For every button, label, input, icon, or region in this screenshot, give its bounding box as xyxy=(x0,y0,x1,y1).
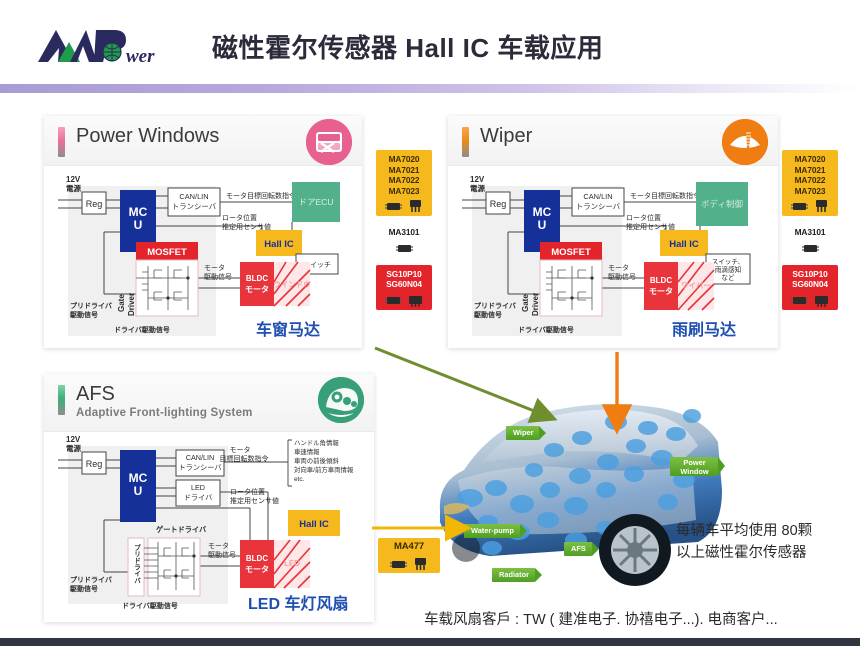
svg-text:ドアECU: ドアECU xyxy=(299,197,334,207)
to220-package-icon xyxy=(406,199,425,213)
soic-package-icon xyxy=(384,293,403,307)
panel-accent-bar xyxy=(58,385,65,415)
svg-text:目標回転数指令: 目標回転数指令 xyxy=(220,454,269,463)
svg-text:プリドライバ: プリドライバ xyxy=(70,575,112,584)
parts-column-power-windows: MA7020 MA7021 MA7022 MA7023 MA3101 SG10P… xyxy=(376,150,432,317)
svg-text:LED: LED xyxy=(284,559,300,568)
svg-text:モータ目標回転数指令: モータ目標回転数指令 xyxy=(630,191,700,200)
svg-text:ドライバ駆動信号: ドライバ駆動信号 xyxy=(114,325,170,334)
svg-text:ロータ位置: ロータ位置 xyxy=(626,213,661,222)
svg-text:Reg: Reg xyxy=(86,199,103,209)
svg-text:モータ: モータ xyxy=(204,263,225,272)
svg-text:対向車/前方車両情報: 対向車/前方車両情報 xyxy=(294,465,354,474)
svg-text:ドライバ: ドライバ xyxy=(184,493,213,502)
header-accent-rule xyxy=(0,84,860,93)
part-number: SG60N04 xyxy=(784,279,836,290)
car-callout-wiper: Wiper xyxy=(506,426,539,440)
svg-text:BLDC: BLDC xyxy=(650,276,672,285)
svg-text:ウインドウ: ウインドウ xyxy=(273,280,311,289)
svg-text:雨滴感知: 雨滴感知 xyxy=(715,265,741,274)
svg-text:プリドライバ: プリドライバ xyxy=(474,301,516,310)
part-number: MA7022 xyxy=(378,175,430,186)
wiper-icon xyxy=(722,119,768,165)
svg-text:MC: MC xyxy=(129,205,148,219)
svg-text:ドライバ駆動信号: ドライバ駆動信号 xyxy=(518,325,574,334)
svg-text:駆動信号: 駆動信号 xyxy=(473,310,502,319)
svg-text:ハンドル角情報: ハンドル角情報 xyxy=(294,438,339,447)
sensor-count-line-2: 以上磁性霍尔传感器 xyxy=(676,542,856,564)
svg-text:CAN/LIN: CAN/LIN xyxy=(583,192,612,201)
soic-package-icon xyxy=(790,199,809,213)
part-number: MA7022 xyxy=(784,175,836,186)
part-chip: SG10P10 SG60N04 xyxy=(782,265,838,310)
svg-text:車速情報: 車速情報 xyxy=(294,447,320,456)
svg-text:駆動信号: 駆動信号 xyxy=(69,310,98,319)
svg-text:モータ: モータ xyxy=(245,564,269,574)
svg-text:車両の前後傾斜: 車両の前後傾斜 xyxy=(294,456,339,465)
car-callout-radiator: Radiator xyxy=(492,568,535,582)
panel-title: AFS xyxy=(76,383,115,406)
svg-text:モータ目標回転数指令: モータ目標回転数指令 xyxy=(226,191,296,200)
svg-text:Reg: Reg xyxy=(490,199,507,209)
panel-zh-caption: LED 车灯风扇 xyxy=(248,590,348,614)
part-number: MA7023 xyxy=(378,186,430,197)
dpak-package-icon xyxy=(812,293,831,307)
parts-column-wiper: MA7020 MA7021 MA7022 MA7023 MA3101 SG10P… xyxy=(782,150,838,317)
svg-text:駆動信号: 駆動信号 xyxy=(69,584,98,593)
dpak-package-icon xyxy=(406,293,425,307)
part-chip: MA3101 xyxy=(376,223,432,258)
panel-header-wiper: Wiper xyxy=(448,116,778,166)
svg-text:BLDC: BLDC xyxy=(246,554,268,563)
part-number: MA7021 xyxy=(784,165,836,176)
panel-header-power-windows: Power Windows xyxy=(44,116,362,166)
svg-text:ロータ位置: ロータ位置 xyxy=(230,487,265,496)
page-header: wer 磁性霍尔传感器 Hall IC 车载应用 xyxy=(0,0,860,84)
panel-power-windows: Power Windows xyxy=(44,116,362,348)
soic-package-icon xyxy=(801,241,820,255)
to220-package-icon xyxy=(411,556,430,570)
svg-text:モータ: モータ xyxy=(649,286,673,296)
car-callout-water-pump: Water-pump xyxy=(464,524,520,538)
part-number: MA3101 xyxy=(784,227,836,238)
soic-package-icon xyxy=(389,556,408,570)
sensor-count-note: 每辆车平均使用 80颗 以上磁性霍尔传感器 xyxy=(676,520,856,564)
svg-text:推定用センサ値: 推定用センサ値 xyxy=(222,222,271,231)
panel-zh-caption: 车窗马达 xyxy=(256,316,320,340)
part-chip: MA3101 xyxy=(782,223,838,258)
svg-text:トランシーバ: トランシーバ xyxy=(178,463,221,472)
svg-text:推定用センサ値: 推定用センサ値 xyxy=(626,222,675,231)
panel-afs: AFS Adaptive Front-lighting System xyxy=(44,374,374,622)
soic-package-icon xyxy=(790,293,809,307)
part-number: SG10P10 xyxy=(784,269,836,280)
part-number: MA7023 xyxy=(784,186,836,197)
svg-text:ワイパー: ワイパー xyxy=(681,280,711,290)
part-number: SG60N04 xyxy=(378,279,430,290)
svg-text:MOSFET: MOSFET xyxy=(147,247,187,258)
svg-text:ボディ制御: ボディ制御 xyxy=(701,199,743,209)
svg-text:MOSFET: MOSFET xyxy=(551,247,591,258)
diagram-afs: Reg 12V 電源 MC U CAN/LIN トランシーバ LED ドライバ … xyxy=(44,432,374,622)
car-callout-afs: AFS xyxy=(564,542,592,556)
svg-text:Gate: Gate xyxy=(521,294,530,312)
svg-text:電源: 電源 xyxy=(66,443,81,453)
panel-wiper: Wiper Reg xyxy=(448,116,778,348)
svg-text:CAN/LIN: CAN/LIN xyxy=(179,192,208,201)
part-number: MA7020 xyxy=(784,154,836,165)
svg-text:トランシーバ: トランシーバ xyxy=(172,202,217,211)
to220-package-icon xyxy=(812,199,831,213)
svg-text:駆動信号: 駆動信号 xyxy=(208,550,236,559)
car-callout-power-window: Power Window xyxy=(670,457,718,476)
panel-title: Wiper xyxy=(480,125,532,148)
svg-text:電源: 電源 xyxy=(66,183,81,193)
svg-text:Driver: Driver xyxy=(531,293,540,316)
svg-text:駆動信号: 駆動信号 xyxy=(608,272,636,281)
panel-subtitle: Adaptive Front-lighting System xyxy=(76,407,253,419)
svg-text:Driver: Driver xyxy=(127,293,136,316)
svg-text:U: U xyxy=(134,484,143,498)
part-number: MA3101 xyxy=(378,227,430,238)
svg-text:BLDC: BLDC xyxy=(246,274,268,283)
svg-text:など: など xyxy=(721,274,735,282)
svg-text:モータ: モータ xyxy=(230,445,251,454)
panel-accent-bar xyxy=(462,127,469,157)
part-number: SG10P10 xyxy=(378,269,430,280)
svg-text:トランシーバ: トランシーバ xyxy=(576,202,621,211)
svg-text:推定用センサ値: 推定用センサ値 xyxy=(230,496,279,505)
svg-text:U: U xyxy=(538,218,547,232)
svg-text:U: U xyxy=(134,218,143,232)
panel-title: Power Windows xyxy=(76,125,219,148)
footer-strip xyxy=(0,638,860,646)
svg-text:モータ: モータ xyxy=(608,263,629,272)
svg-text:ゲートドライバ: ゲートドライバ xyxy=(156,525,207,534)
svg-text:wer: wer xyxy=(126,46,155,67)
car-illustration: Wiper Power Window Water-pump AFS Radiat… xyxy=(430,370,730,600)
part-chip: MA7020 MA7021 MA7022 MA7023 xyxy=(782,150,838,216)
svg-text:スイッチ、: スイッチ、 xyxy=(712,258,745,266)
diagram-power-windows: Reg 12V 電源 MC U CAN/LIN トランシーバ モータ目標回転数指… xyxy=(44,166,362,348)
svg-text:Hall IC: Hall IC xyxy=(299,519,329,530)
svg-text:MC: MC xyxy=(129,471,148,485)
panel-accent-bar xyxy=(58,127,65,157)
svg-text:CAN/LIN: CAN/LIN xyxy=(186,453,214,462)
svg-text:MC: MC xyxy=(533,205,552,219)
part-number: MA7020 xyxy=(378,154,430,165)
panel-zh-caption: 雨刷马达 xyxy=(672,316,736,340)
svg-text:LED: LED xyxy=(191,483,205,492)
part-chip: SG10P10 SG60N04 xyxy=(376,265,432,310)
mpower-logo: wer xyxy=(34,24,204,68)
svg-text:12V: 12V xyxy=(66,175,81,184)
svg-text:12V: 12V xyxy=(66,435,81,444)
svg-text:プリドライバ: プリドライバ xyxy=(70,301,112,310)
headlight-gear-icon xyxy=(318,377,364,423)
svg-text:モータ: モータ xyxy=(245,284,269,294)
svg-text:Hall IC: Hall IC xyxy=(264,239,294,250)
panel-header-afs: AFS Adaptive Front-lighting System xyxy=(44,374,374,432)
page-title: 磁性霍尔传感器 Hall IC 车载应用 xyxy=(212,28,603,65)
svg-text:電源: 電源 xyxy=(470,183,485,193)
part-number: MA7021 xyxy=(378,165,430,176)
svg-text:Hall IC: Hall IC xyxy=(669,239,699,250)
part-chip: MA7020 MA7021 MA7022 MA7023 xyxy=(376,150,432,216)
svg-text:ドライバ駆動信号: ドライバ駆動信号 xyxy=(122,601,178,610)
svg-text:モータ: モータ xyxy=(208,541,229,550)
svg-text:Gate: Gate xyxy=(117,294,126,312)
svg-text:駆動信号: 駆動信号 xyxy=(204,272,232,281)
svg-text:Reg: Reg xyxy=(86,459,103,469)
sensor-count-line-1: 每辆车平均使用 80颗 xyxy=(676,520,856,542)
car-window-icon xyxy=(306,119,352,165)
svg-text:12V: 12V xyxy=(470,175,485,184)
svg-text:ロータ位置: ロータ位置 xyxy=(222,213,257,222)
svg-text:etc.: etc. xyxy=(294,476,305,483)
customer-note: 车载风扇客戶 : TW ( 建准电子. 协禧电子...). 电商客户... xyxy=(424,608,778,629)
soic-package-icon xyxy=(384,199,403,213)
diagram-wiper: Reg 12V 電源 MC U CAN/LIN トランシーバ モータ目標回転数指… xyxy=(448,166,778,348)
soic-package-icon xyxy=(395,241,414,255)
